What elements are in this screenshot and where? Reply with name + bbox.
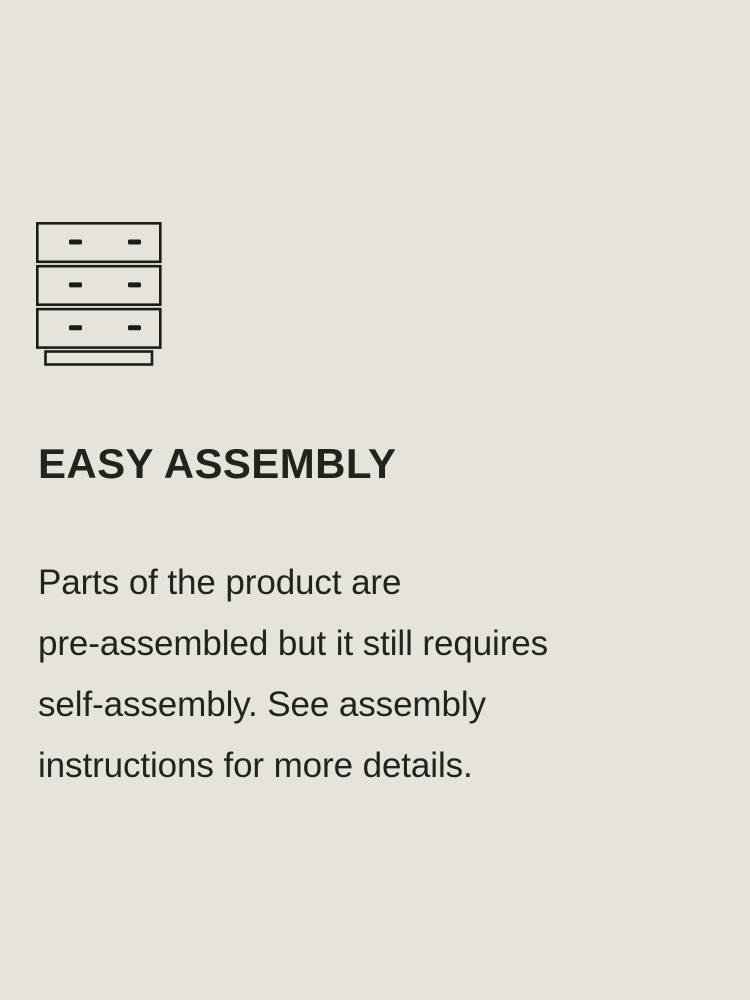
description-line: instructions for more details. [38, 735, 728, 796]
description-line: pre-assembled but it still requires [38, 613, 728, 674]
easy-assembly-feature-card: EASY ASSEMBLY Parts of the product are p… [0, 0, 750, 1000]
page-title: EASY ASSEMBLY [38, 440, 396, 488]
description-line: self-assembly. See assembly [38, 674, 728, 735]
feature-description: Parts of the product are pre-assembled b… [38, 552, 728, 796]
description-line: Parts of the product are [38, 552, 728, 613]
dresser-drawers-icon [36, 222, 164, 367]
